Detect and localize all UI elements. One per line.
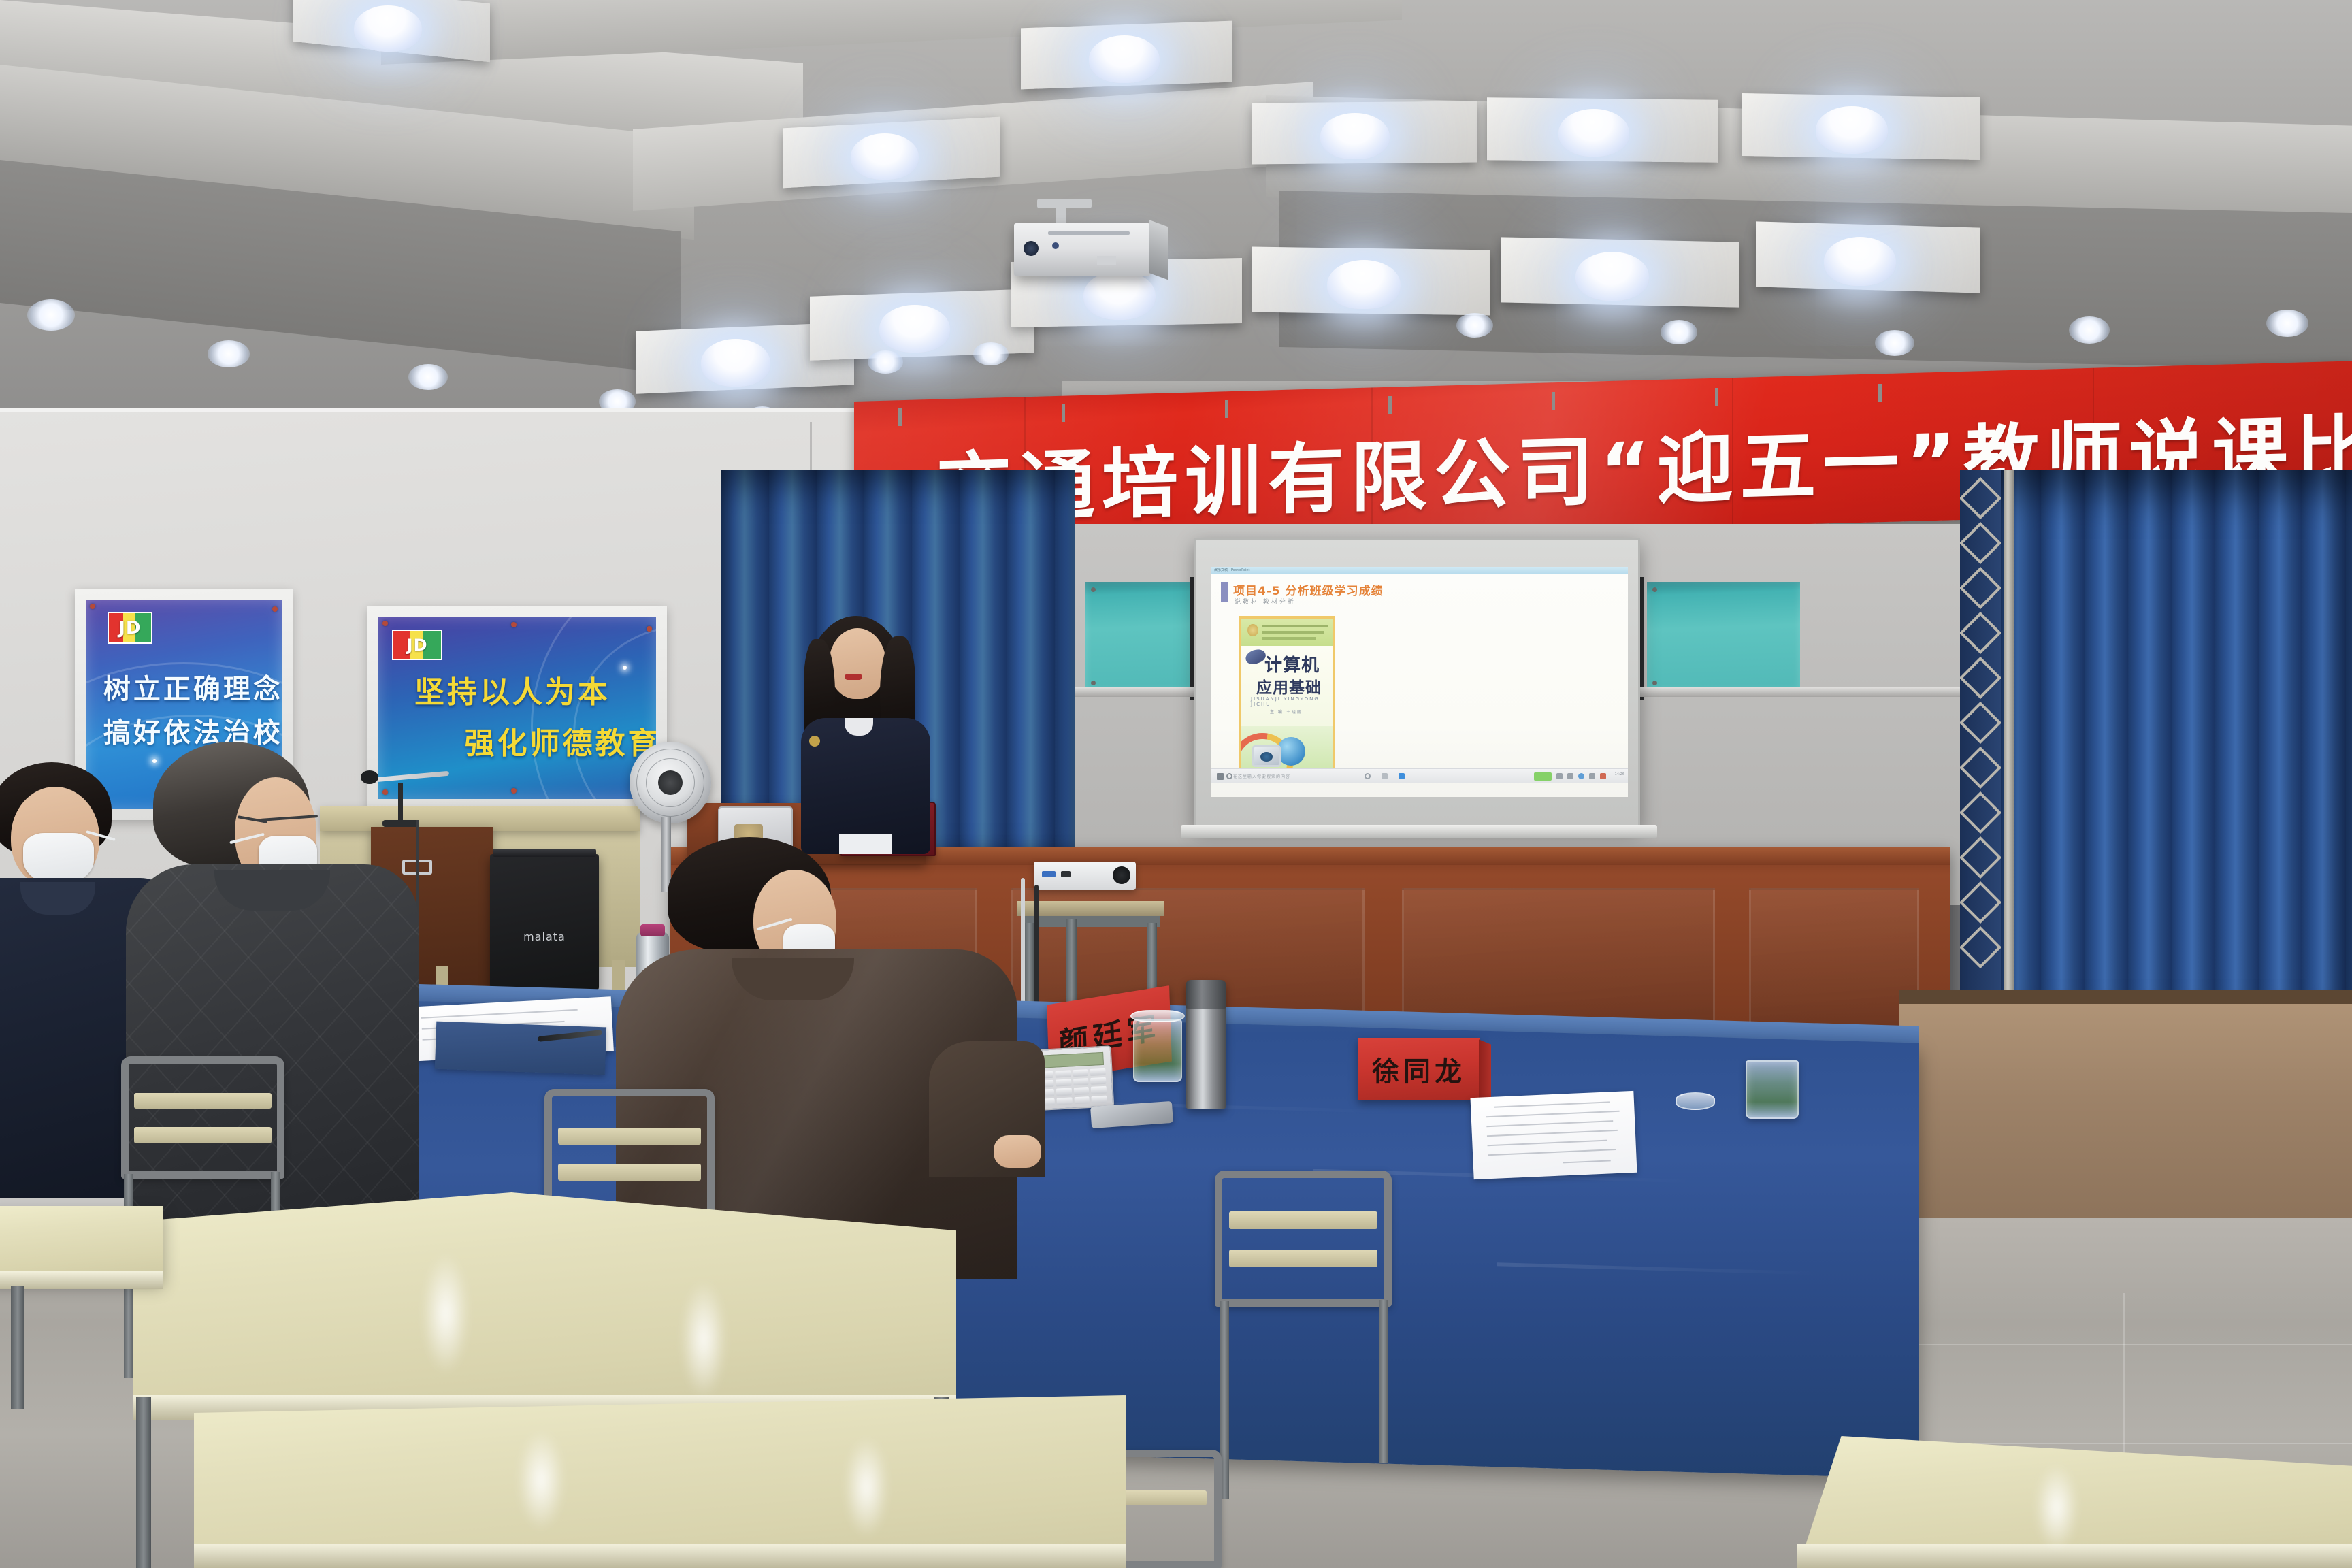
book-header-line: [1262, 625, 1328, 627]
paper-text-line: [1487, 1130, 1618, 1137]
taskbar-active-app[interactable]: [1534, 772, 1552, 781]
jd-logo: JD: [392, 630, 442, 661]
recessed-downlight: [973, 342, 1009, 365]
ceiling-light-bulb: [851, 133, 919, 180]
tray-icon[interactable]: [1600, 773, 1606, 779]
thermos-cap: [1186, 980, 1226, 1009]
lattice-diamond: [1960, 567, 2001, 609]
lattice-post: [2004, 470, 2014, 1014]
lattice-diamond: [1960, 522, 2001, 564]
search-icon[interactable]: [1226, 773, 1232, 779]
projection-screen: 演示文稿 - PowerPoint 项目4-5 分析班级学习成绩 说教材 教材分…: [1194, 538, 1640, 827]
wall-poster-2: JD 坚持以人为本 强化师德教育: [378, 617, 656, 799]
ceiling-light-bulb: [1083, 271, 1156, 320]
projector-lens-icon: [1024, 241, 1039, 256]
recessed-downlight: [1661, 320, 1697, 344]
slide-subheading: 说教材 教材分析: [1235, 597, 1296, 606]
lattice-diamond: [1960, 747, 2001, 789]
slide-accent-bar: [1221, 582, 1228, 602]
foreground-table-b-edge: [0, 1271, 163, 1289]
foreground-table-b-leg: [11, 1286, 24, 1409]
monitor-icon: [1252, 745, 1281, 767]
recessed-downlight: [1875, 330, 1914, 356]
taskbar-app-icon[interactable]: [1365, 773, 1371, 779]
tea-glass-front: [1133, 1019, 1182, 1082]
banner-clip: [1225, 400, 1228, 418]
ceiling-light-bulb: [1816, 106, 1888, 154]
lattice-diamond: [1960, 881, 2001, 924]
tray-icon[interactable]: [1578, 773, 1584, 779]
foreground-table-b-top: [0, 1206, 163, 1281]
recessed-downlight: [868, 350, 903, 374]
os-taskbar[interactable]: 在这里输入你要搜索的内容 14:26: [1211, 768, 1628, 783]
chair-backrest: [1215, 1171, 1392, 1307]
table-d-highlight: [844, 1436, 889, 1538]
book-seal-icon: [1247, 624, 1258, 636]
paper-text-line: [1488, 1140, 1607, 1147]
lattice-diamond: [1960, 791, 2001, 834]
name-placard-2-text: 徐同龙: [1372, 1049, 1466, 1089]
ceiling-light-bulb: [1575, 252, 1649, 301]
poster-screw: [90, 604, 95, 609]
ceiling-light-bulb: [1327, 260, 1401, 309]
ceiling-light-bulb: [879, 305, 950, 353]
paper-text-line: [1486, 1111, 1620, 1118]
foreground-table-a-top: [133, 1192, 956, 1417]
book-title-area: 计算机 应用基础 JISUANJI YINGYONG JICHU 主 编 王晓丽: [1241, 646, 1333, 726]
book-header-line: [1262, 631, 1324, 634]
presenter-head: [829, 628, 886, 699]
drinking-glass: [1676, 1092, 1715, 1110]
foreground-table-a-leg: [136, 1396, 151, 1568]
table-a-highlight: [422, 1252, 470, 1375]
recessed-downlight: [408, 364, 448, 390]
projector-vent: [1048, 231, 1130, 235]
tea-glass-right: [1746, 1060, 1799, 1119]
judge-c-hand: [994, 1135, 1041, 1168]
book-title-line2: 应用基础: [1256, 674, 1322, 698]
ceiling-light-bulb: [1824, 237, 1896, 286]
chair-left[interactable]: [121, 1056, 284, 1179]
recessed-downlight: [2069, 316, 2110, 344]
tablecloth-wrinkle: [1497, 1262, 1824, 1275]
poster-2-line-1: 坚持以人为本: [414, 668, 610, 711]
foreground-table-d-edge: [194, 1543, 1126, 1568]
floor-tile-joint: [1906, 1344, 2352, 1345]
panel-screw: [1652, 587, 1657, 592]
book-author-line: 主 编 王晓丽: [1270, 708, 1303, 715]
ceiling-light-bulb: [354, 5, 422, 52]
tray-icon[interactable]: [1567, 773, 1573, 779]
chair-slat: [134, 1127, 272, 1143]
projector-side-panel: [1149, 220, 1168, 280]
chair-slat: [134, 1093, 272, 1109]
banner-clip: [898, 408, 902, 426]
table-a-highlight: [681, 1279, 727, 1399]
jd-logo: JD: [108, 612, 152, 643]
name-placard-2: 徐同龙: [1358, 1038, 1480, 1100]
poster-screw: [272, 606, 278, 612]
chair-backrest: [121, 1056, 284, 1179]
stool-top: [1017, 901, 1164, 916]
slide-content: 项目4-5 分析班级学习成绩 说教材 教材分析 计算机 应用基础 JISUANJ…: [1211, 574, 1628, 783]
banner-clip: [1715, 388, 1718, 406]
stage-curtain-right: [1997, 470, 2352, 1007]
chair-leg: [1379, 1300, 1388, 1463]
floor-tile-joint: [1974, 1443, 2352, 1444]
taskbar-app-icon[interactable]: [1399, 773, 1405, 779]
book-title-line1: 计算机: [1264, 651, 1320, 676]
ceiling-light-bulb: [1558, 109, 1629, 157]
foreground-table-c-edge: [1797, 1543, 2352, 1568]
tray-icon[interactable]: [1589, 773, 1595, 779]
projector-led: [1052, 242, 1059, 249]
paper-text-line: [1486, 1120, 1613, 1127]
table-projector: [1034, 862, 1136, 890]
presentation-slide: 演示文稿 - PowerPoint 项目4-5 分析班级学习成绩 说教材 教材分…: [1211, 567, 1628, 797]
projection-screen-roller: [1181, 825, 1657, 838]
banner-clip: [1388, 396, 1392, 414]
start-menu-icon[interactable]: [1217, 773, 1224, 780]
poster-screw: [647, 626, 652, 632]
fan-hub: [658, 770, 683, 795]
speaker-top-panel: [493, 849, 596, 857]
presenter-badge-icon: [809, 736, 820, 747]
table-c-highlight: [2035, 1463, 2078, 1552]
stainless-thermos: [1186, 980, 1226, 1109]
judge-left-mask: [23, 833, 94, 885]
book-footer-graphic: [1241, 726, 1333, 770]
chair-center-right[interactable]: [1215, 1171, 1392, 1307]
lattice-diamond: [1960, 657, 2001, 699]
ceiling-light-bulb: [1320, 113, 1390, 159]
poster-1-line-1: 树立正确理念: [103, 667, 282, 706]
panel-screw: [1091, 681, 1096, 685]
tea-glass-lid: [1130, 1010, 1185, 1022]
projector-mount-plate: [1037, 199, 1092, 208]
stage-baseboard: [1899, 990, 2352, 1004]
globe-icon: [1277, 737, 1305, 766]
panel-screw: [1091, 587, 1096, 592]
book-subtitle: JISUANJI YINGYONG JICHU: [1251, 696, 1327, 707]
lattice-diamond: [1960, 926, 2001, 968]
stool-apron: [1022, 916, 1160, 927]
lattice-diamond: [1960, 836, 2001, 879]
slide-window-titlebar: 演示文稿 - PowerPoint: [1211, 567, 1628, 574]
ceiling-light-bulb: [1089, 35, 1160, 83]
evaluation-sheet: [1470, 1091, 1637, 1179]
chair-slat: [1229, 1249, 1377, 1267]
book-header-band: [1241, 619, 1333, 646]
poster-screw: [382, 621, 388, 626]
tray-icon[interactable]: [1556, 773, 1563, 779]
recessed-downlight: [208, 340, 250, 367]
chair-slat: [1229, 1211, 1377, 1229]
pedestal-fan: [630, 742, 711, 823]
recessed-downlight: [2266, 310, 2308, 337]
taskbar-search-placeholder[interactable]: 在这里输入你要搜索的内容: [1233, 773, 1290, 779]
paper-text-line: [421, 1009, 578, 1019]
notepad-sheet: [435, 1022, 606, 1075]
banner-clip: [1062, 404, 1065, 422]
projector-lens-icon: [1113, 866, 1130, 884]
taskbar-app-icon[interactable]: [1382, 773, 1388, 779]
presenter-lips: [845, 674, 862, 680]
projector-port: [1042, 871, 1056, 877]
lattice-diamond: [1960, 702, 2001, 744]
projector-port: [1061, 871, 1071, 877]
paper-text-line: [1494, 1101, 1610, 1107]
poster-2-line-2: 强化师德教育: [464, 719, 656, 762]
person-presenter: [786, 616, 943, 854]
conference-hall-photo: 交通培训有限公司“迎五一”教师说课比赛 演示文稿 - Power: [0, 0, 2352, 1568]
projector-label: [1097, 256, 1116, 265]
slide-heading: 项目4-5 分析班级学习成绩: [1233, 581, 1384, 598]
textbook-cover-image: 计算机 应用基础 JISUANJI YINGYONG JICHU 主 编 王晓丽: [1239, 616, 1335, 772]
recessed-downlight: [27, 299, 75, 331]
ceiling-projector: [1014, 223, 1150, 276]
teal-wall-panel: [1085, 582, 1193, 691]
book-header-line: [1262, 637, 1316, 640]
chair-slat: [558, 1128, 701, 1145]
table-d-highlight: [517, 1429, 565, 1531]
speaker-brand-label: malata: [490, 930, 599, 943]
lattice-diamond: [1960, 477, 2001, 519]
chair-slat: [558, 1164, 701, 1181]
recessed-downlight: [1456, 313, 1493, 338]
teal-wall-panel: [1647, 582, 1800, 691]
panel-screw: [1652, 681, 1657, 685]
taskbar-clock: 14:26: [1615, 772, 1624, 777]
floor-speaker: malata: [490, 854, 599, 990]
foreground-table-d-top: [194, 1395, 1126, 1568]
banner-clip: [1878, 384, 1882, 402]
banner-clip: [1552, 392, 1555, 410]
ceiling-light-bulb: [701, 339, 770, 387]
stage-platform: [1899, 1000, 2352, 1245]
paper-text-line: [1563, 1160, 1611, 1163]
decorative-lattice-column: [1960, 470, 2001, 1007]
paper-text-line: [1488, 1149, 1616, 1156]
lattice-diamond: [1960, 612, 2001, 654]
